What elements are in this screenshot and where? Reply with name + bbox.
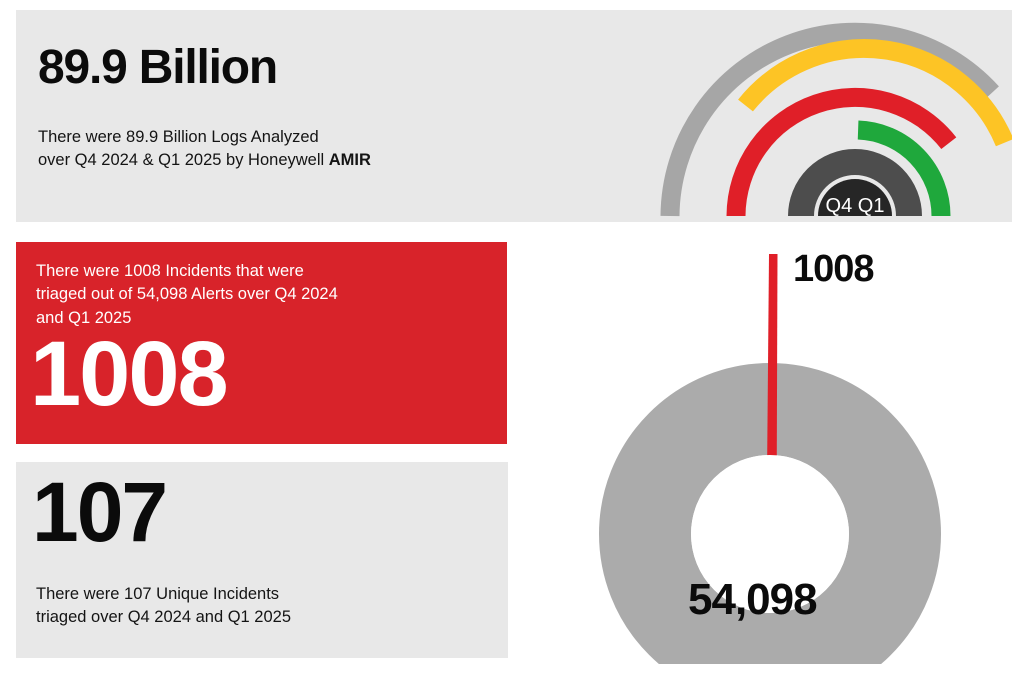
gauge-center-label: Q4 Q1 xyxy=(826,195,885,217)
hero-number: 89.9 Billion xyxy=(38,44,277,92)
infographic-canvas: 89.9 Billion There were 89.9 Billion Log… xyxy=(0,0,1033,686)
hero-description: There were 89.9 Billion Logs Analyzed ov… xyxy=(38,126,638,173)
incidents-card-number: 1008 xyxy=(30,328,227,420)
semicircle-gauge-chart: Q4 Q1 xyxy=(640,16,1012,222)
hero-description-emphasis: AMIR xyxy=(329,151,371,169)
unique-incidents-number: 107 xyxy=(32,470,166,554)
unique-incidents-description: There were 107 Unique Incidents triaged … xyxy=(36,583,456,630)
donut-label-incidents: 1008 xyxy=(793,250,874,288)
incidents-card-description: There were 1008 Incidents that were tria… xyxy=(36,260,456,330)
donut-label-alerts: 54,098 xyxy=(688,578,817,622)
hero-description-text: There were 89.9 Billion Logs Analyzed ov… xyxy=(38,128,329,169)
